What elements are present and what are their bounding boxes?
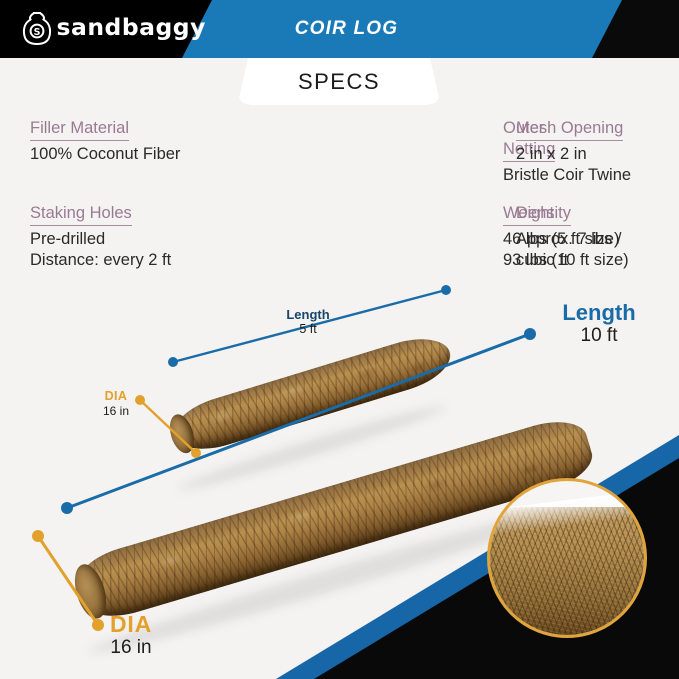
length-10ft-dot-start <box>61 502 73 514</box>
spec-item-filler-material: Filler Material 100% Coconut Fiber <box>0 118 238 186</box>
spec-label: Density <box>516 203 571 226</box>
dia-16in-small-callout: DIA 16 in <box>82 390 150 417</box>
spec-value: Pre-drilled Distance: every 2 ft <box>30 229 238 271</box>
header-bar: S sandbaggy COIR LOG <box>0 0 679 58</box>
sandbag-icon: S <box>22 11 52 45</box>
spec-item-weight: Weight 46 lbs (5 ft size) 93 lbs (10 ft … <box>238 203 503 271</box>
callout-key: Length <box>262 308 354 322</box>
callout-key: DIA <box>72 612 190 637</box>
brand-wordmark: sandbaggy <box>57 15 206 41</box>
spec-value-line: Pre-drilled <box>30 229 238 250</box>
spec-value-line: 2 in x 2 in <box>516 144 679 165</box>
spec-label: Mesh Opening <box>516 118 623 141</box>
dia-large-dot-start <box>32 530 44 542</box>
spec-item-outer-netting: Outer Netting Bristle Coir Twine <box>238 118 503 186</box>
coir-texture-detail <box>487 478 647 638</box>
spec-value: 2 in x 2 in <box>516 144 679 165</box>
callout-value: 10 ft <box>540 326 658 347</box>
callout-value: 5 ft <box>262 323 354 337</box>
length-10ft-callout: Length 10 ft <box>540 301 658 346</box>
spec-grid: Filler Material 100% Coconut Fiber Outer… <box>0 118 679 271</box>
spec-item-staking-holes: Staking Holes Pre-drilled Distance: ever… <box>0 203 238 271</box>
product-spec-sheet: S sandbaggy COIR LOG SPECS Filler Materi… <box>0 0 679 679</box>
length-5ft-dot-start <box>168 357 178 367</box>
callout-key: DIA <box>82 390 150 404</box>
specs-tab[interactable]: SPECS <box>239 58 439 105</box>
spec-value-line: 100% Coconut Fiber <box>30 144 238 165</box>
spec-item-density: Density Approx. 7 lbs / cubic ft <box>486 203 679 271</box>
callout-key: Length <box>540 301 658 325</box>
spec-value-line: Distance: every 2 ft <box>30 250 238 271</box>
spec-item-mesh-opening: Mesh Opening 2 in x 2 in <box>486 118 679 186</box>
spec-value: Approx. 7 lbs / cubic ft <box>516 229 679 271</box>
callout-value: 16 in <box>82 405 150 418</box>
spec-value-line: cubic ft <box>516 250 679 271</box>
length-5ft-dot-end <box>441 285 451 295</box>
brand-logo[interactable]: S sandbaggy <box>22 11 204 45</box>
specs-tab-label: SPECS <box>298 69 380 95</box>
length-10ft-dot-end <box>524 328 536 340</box>
callout-value: 16 in <box>72 638 190 659</box>
length-5ft-callout: Length 5 ft <box>262 308 354 337</box>
svg-text:S: S <box>34 27 41 38</box>
spec-label: Filler Material <box>30 118 129 141</box>
spec-label: Staking Holes <box>30 203 132 226</box>
spec-value-line: Approx. 7 lbs / <box>516 229 679 250</box>
spec-value: 100% Coconut Fiber <box>30 144 238 165</box>
dia-16in-large-callout: DIA 16 in <box>72 612 190 658</box>
